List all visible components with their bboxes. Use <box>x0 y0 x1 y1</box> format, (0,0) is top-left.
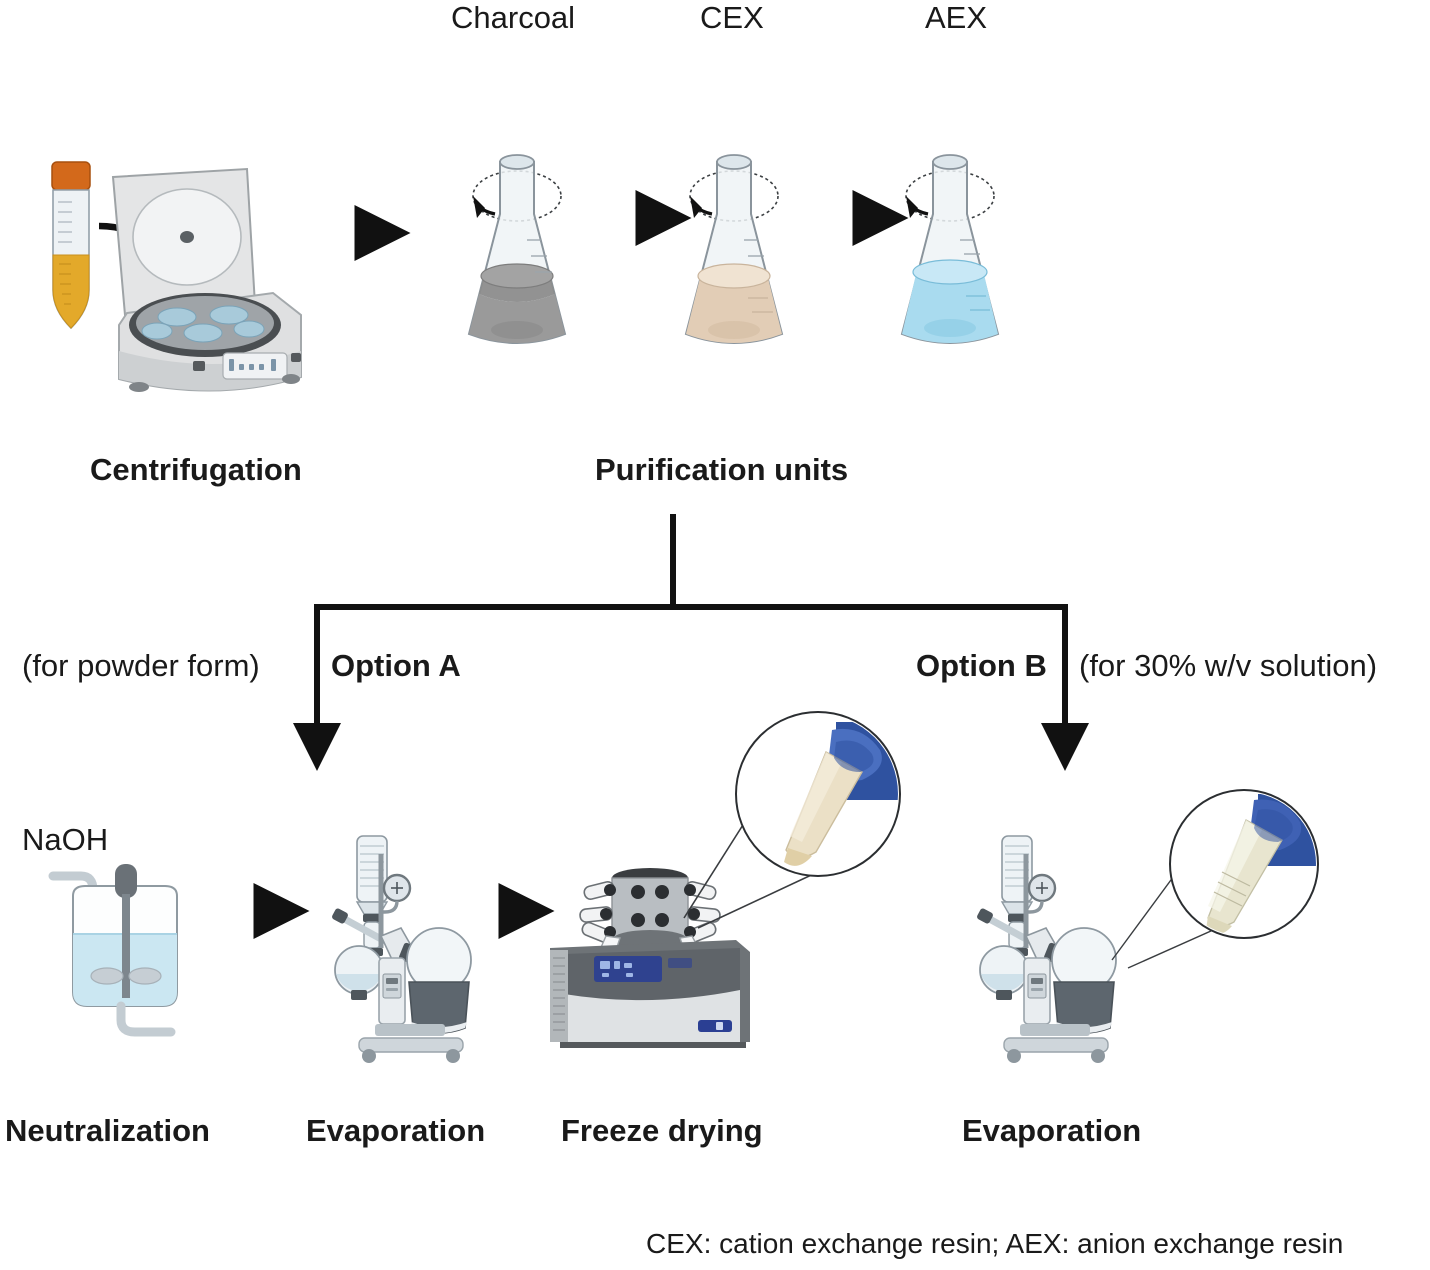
reagent-label-naoh: NaOH <box>22 822 108 858</box>
branch-note-powder: (for powder form) <box>22 648 260 684</box>
branch-label-option-a: Option A <box>331 648 461 684</box>
bottom-label-evaporation-a: Evaporation <box>306 1113 485 1149</box>
erlenmeyer-flask-charcoal-icon <box>455 148 585 366</box>
top-label-charcoal: Charcoal <box>451 0 575 36</box>
erlenmeyer-flask-aex-icon <box>888 148 1018 366</box>
process-flow-diagram: Charcoal CEX AEX <box>0 0 1430 1270</box>
bottom-label-evaporation-b: Evaporation <box>962 1113 1141 1149</box>
top-label-aex: AEX <box>925 0 987 36</box>
erlenmeyer-flask-cex-icon <box>672 148 802 366</box>
bottom-label-freeze-drying: Freeze drying <box>561 1113 763 1149</box>
footnote-legend: CEX: cation exchange resin; AEX: anion e… <box>646 1228 1343 1260</box>
rotary-evaporator-icon <box>970 832 1130 1072</box>
arrow-cex-to-aex <box>805 200 897 236</box>
centrifuge-icon <box>105 165 320 410</box>
bottom-label-neutralization: Neutralization <box>5 1113 210 1149</box>
arrow-centrifuge-to-purification <box>305 215 400 251</box>
arrow-evaporation-to-freeze-drying <box>435 893 545 929</box>
arrow-charcoal-to-cex <box>588 200 680 236</box>
branch-note-solution: (for 30% w/v solution) <box>1079 648 1377 684</box>
branch-label-option-b: Option B <box>916 648 1047 684</box>
stage-label-centrifugation: Centrifugation <box>90 452 302 488</box>
rotary-evaporator-icon <box>325 832 485 1072</box>
arrow-neutralization-to-evaporation <box>190 893 300 929</box>
stage-label-purification-units: Purification units <box>595 452 848 488</box>
top-label-cex: CEX <box>700 0 764 36</box>
stirred-tank-reactor-icon <box>45 860 225 1050</box>
solution-tube-callout-icon <box>1108 782 1338 982</box>
powder-tube-callout-icon <box>676 706 916 936</box>
